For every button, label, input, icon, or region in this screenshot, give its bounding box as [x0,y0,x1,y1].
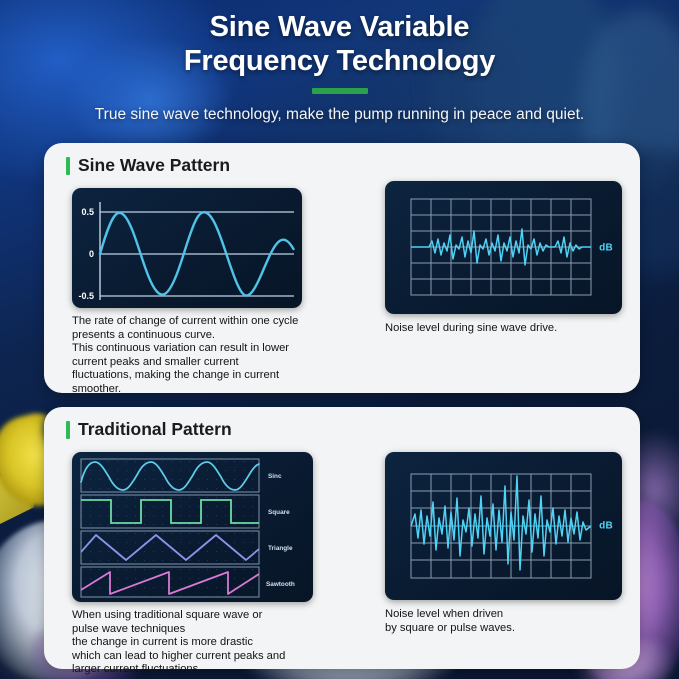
svg-text:0.5: 0.5 [81,207,94,217]
db-label: dB [599,521,613,532]
waveform-label-sinc: Sinc [268,473,282,480]
section-title-sine: Sine Wave Pattern [66,155,230,176]
db-label: dB [599,242,613,253]
noise-square-caption: Noise level when drivenby square or puls… [385,608,630,635]
noise-sine-chart [385,181,622,314]
traditional-waveforms-scope: Sinc Square Triangle [72,452,313,602]
header: Sine Wave Variable Frequency Technology … [0,0,679,141]
noise-sine-column: dB Noise level during sine wave drive. [385,181,630,336]
noise-sine-caption: Noise level during sine wave drive. [385,322,630,336]
noise-square-chart [385,452,622,600]
waveform-row-triangle: Triangle [81,531,293,564]
waveform-row-square: Square [81,495,290,528]
sine-wave-caption: The rate of change of current within one… [72,315,320,397]
noise-sine-scope: dB [385,181,622,314]
card-sine-wave-pattern: Sine Wave Pattern 0.5 0 -0.5 The rate of… [44,143,640,393]
svg-text:0: 0 [89,249,94,259]
page-subtitle: True sine wave technology, make the pump… [0,105,679,125]
waveform-row-sinc: Sinc [81,459,282,492]
page-title-line-1: Sine Wave Variable [0,10,679,44]
section-title-traditional: Traditional Pattern [66,419,232,440]
traditional-caption: When using traditional square wave orpul… [72,609,320,677]
section-accent-bar-icon [66,421,70,439]
section-accent-bar-icon [66,157,70,175]
sine-wave-scope: 0.5 0 -0.5 [72,188,302,308]
waveform-label-square: Square [268,509,290,516]
sine-wave-chart: 0.5 0 -0.5 [72,188,302,308]
waveform-row-sawtooth: Sawtooth [81,567,295,597]
waveform-label-sawtooth: Sawtooth [266,581,295,588]
title-accent-bar [312,88,368,94]
section-title-label: Traditional Pattern [78,419,232,440]
traditional-waveform-column: Sinc Square Triangle [72,452,320,677]
section-title-label: Sine Wave Pattern [78,155,230,176]
traditional-waveforms-chart: Sinc Square Triangle [72,452,313,602]
page-title: Sine Wave Variable Frequency Technology [0,10,679,78]
page-title-line-2: Frequency Technology [0,44,679,78]
svg-text:-0.5: -0.5 [78,291,94,301]
noise-square-column: dB Noise level when drivenby square or p… [385,452,630,635]
noise-grid [411,199,591,295]
sine-wave-column: 0.5 0 -0.5 The rate of change of current… [72,188,320,397]
waveform-label-triangle: Triangle [268,545,293,552]
noise-square-scope: dB [385,452,622,600]
card-traditional-pattern: Traditional Pattern Sinc [44,407,640,669]
